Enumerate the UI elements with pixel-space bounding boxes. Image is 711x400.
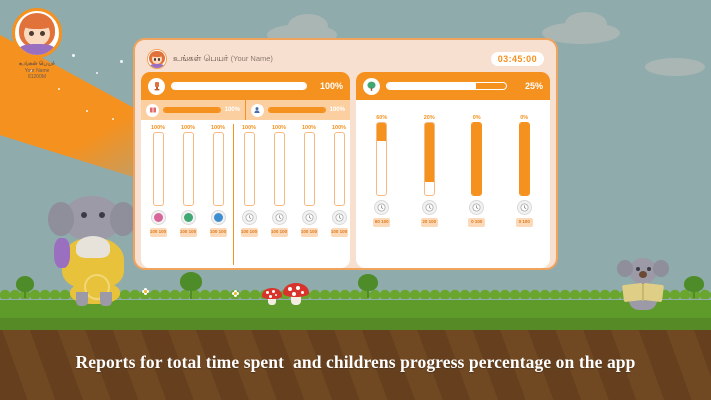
cloud-icon [645,58,705,76]
cloud-icon [288,14,328,38]
bar-label: 100 100 [241,228,258,237]
bar-item[interactable]: 100% 100 100 [234,124,264,265]
subbar-track [268,107,326,113]
profile-id: 81200M [6,74,68,80]
sparkle-icon [58,88,60,90]
bar-label: 0 100 [516,218,533,227]
bar-label: 20 100 [421,218,438,227]
bar-item[interactable]: 100% 100 100 [203,124,233,265]
tree-icon [16,276,34,298]
bar-fill [520,123,529,195]
subbar-item: 100% [141,100,245,120]
clock-icon [374,200,389,215]
left-progress-percent: 100% [313,81,343,91]
right-card-header: 25% [356,72,550,100]
user-name-ta: உங்கள் பெயர் [173,53,228,63]
left-progress-fill [172,83,306,89]
bar-track [519,122,530,196]
bar-percent: 60% [376,114,387,122]
bar-group-a: 100% 100 100 100% 100 100 100% [143,124,233,265]
bar-label: 100 100 [271,228,288,237]
app-screenshot: உங்கள் பெயர் Your Name 81200M உங்கள் பெய… [0,0,711,400]
right-progress-track [386,82,507,90]
clock-icon [422,200,437,215]
tree-icon [363,78,380,95]
user-name: உங்கள் பெயர் (Your Name) [173,53,273,65]
bar-percent: 0% [473,114,481,122]
bar-label: 100 100 [331,228,348,237]
sparkle-icon [96,72,98,74]
clock-icon [332,210,347,225]
bar-percent: 100% [272,124,286,132]
bar-percent: 0% [520,114,528,122]
bar-item[interactable]: 0% 0 100 [462,114,492,265]
bar-track [424,122,435,196]
sparkle-icon [112,118,114,120]
bar-item[interactable]: 0% 0 100 [509,114,539,265]
tree-icon [180,272,202,298]
caption-text: Reports for total time spent and childre… [0,352,711,373]
bar-track [376,122,387,196]
left-report-card: 100% 100% [141,72,350,268]
circle-green-icon [181,210,196,225]
bar-track [213,132,224,206]
user-name-en: (Your Name) [231,54,273,63]
koala-reading-character-icon [611,258,673,310]
bar-label: 60 100 [373,218,390,227]
mushroom-icon [283,283,309,305]
bar-label: 100 100 [150,228,167,237]
subbar-track [163,107,221,113]
trophy-icon [148,78,165,95]
bar-percent: 100% [211,124,225,132]
right-progress-percent: 25% [513,81,543,91]
bar-label: 100 100 [210,228,227,237]
bar-label: 100 100 [301,228,318,237]
report-panel: உங்கள் பெயர் (Your Name) 03:45:00 100% [133,38,558,270]
left-card-bars: 100% 100 100 100% 100 100 100% [141,120,350,268]
bar-item[interactable]: 60% 60 100 [367,114,397,265]
report-columns: 100% 100% [141,72,550,268]
bar-item[interactable]: 100% 100 100 [173,124,203,265]
mushroom-icon [262,288,282,305]
bar-percent: 100% [332,124,346,132]
user-chip[interactable]: உங்கள் பெயர் (Your Name) [147,49,273,69]
circle-blue-icon [211,210,226,225]
timer-badge: 03:45:00 [491,52,544,66]
avatar [147,49,167,69]
bar-percent: 20% [424,114,435,122]
profile-name-ta: உங்கள் பெயர் [6,61,68,68]
bar-item[interactable]: 100% 100 100 [264,124,294,265]
bar-group-right: 60% 60 100 20% [358,114,548,265]
bar-track [274,132,285,206]
bar-item[interactable]: 100% 100 100 [143,124,173,265]
panel-header: உங்கள் பெயர் (Your Name) 03:45:00 [141,46,550,72]
bar-item[interactable]: 100% 100 100 [294,124,324,265]
right-report-card: 25% 60% 60 100 20% [356,72,550,268]
elephant-character-icon [40,196,146,306]
subbar-item: 100% [245,100,350,120]
subbar-fill [164,108,220,112]
bar-track [153,132,164,206]
left-subbar-row: 100% 100% [141,100,350,120]
bar-fill [472,123,481,195]
bar-percent: 100% [181,124,195,132]
avatar [12,8,62,58]
sparkle-icon [72,54,75,57]
bar-item[interactable]: 100% 100 100 [324,124,350,265]
tree-icon [684,276,704,298]
bar-percent: 100% [151,124,165,132]
flower-icon [232,290,239,297]
bar-fill [425,123,434,182]
bar-track [304,132,315,206]
sparkle-icon [120,60,123,63]
sparkle-icon [86,110,88,112]
bar-label: 100 100 [180,228,197,237]
circle-pink-icon [151,210,166,225]
subbar-percent: 100% [330,107,345,113]
bar-track [334,132,345,206]
person-icon [251,104,264,117]
left-progress-track [171,82,307,90]
tree-icon [358,274,378,298]
profile-badge[interactable]: உங்கள் பெயர் Your Name 81200M [6,8,68,80]
bar-item[interactable]: 20% 20 100 [414,114,444,265]
bar-track [183,132,194,206]
right-progress-fill [387,83,476,89]
bar-label: 0 100 [468,218,485,227]
bar-group-b: 100% 100 100 100% [233,124,350,265]
bar-percent: 100% [302,124,316,132]
subbar-percent: 100% [225,107,240,113]
clock-icon [517,200,532,215]
clock-icon [469,200,484,215]
left-card-header: 100% [141,72,350,100]
clock-icon [302,210,317,225]
bar-track [244,132,255,206]
subbar-fill [269,108,325,112]
cloud-icon [565,12,607,36]
book-icon [146,104,159,117]
clock-icon [242,210,257,225]
right-card-bars: 60% 60 100 20% [356,100,550,268]
clock-icon [272,210,287,225]
bar-fill [377,123,386,141]
bar-track [471,122,482,196]
bar-percent: 100% [242,124,256,132]
